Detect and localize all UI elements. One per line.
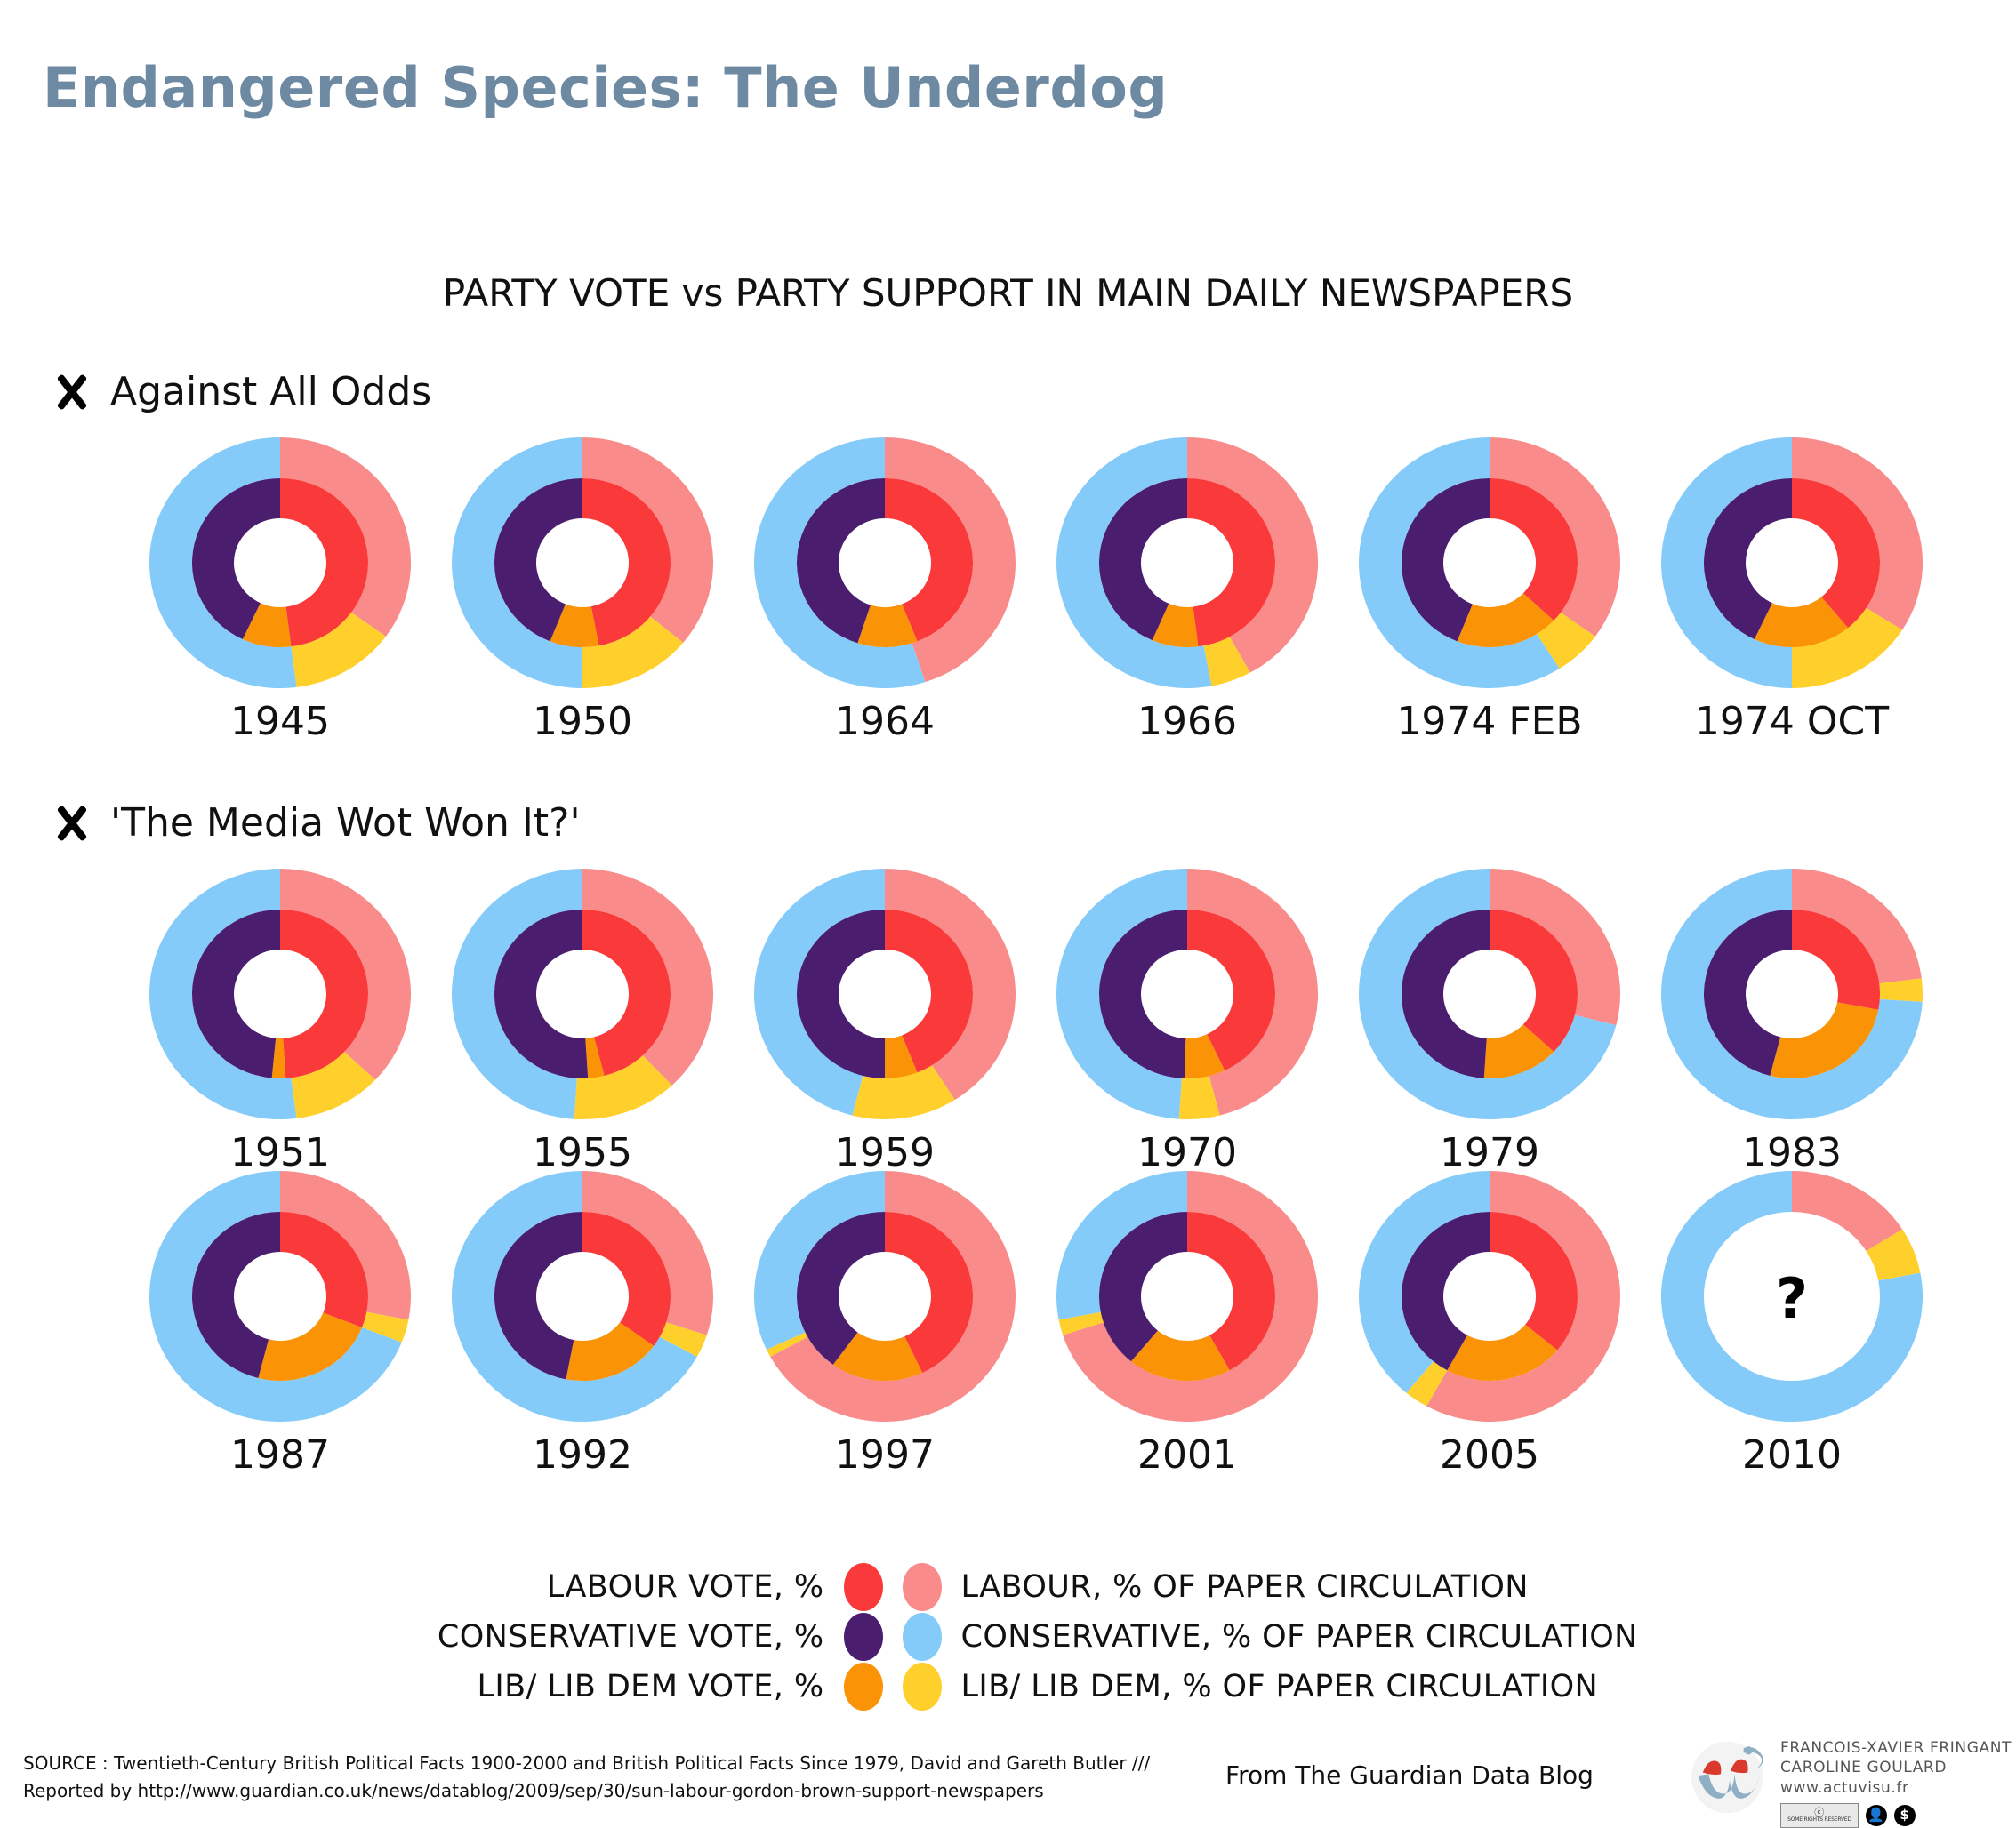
legend-vote-swatch-0 xyxy=(844,1563,883,1611)
donut-chart-1974-OCT xyxy=(1659,436,1925,694)
chart-cell-1951: 1951 xyxy=(138,867,422,1175)
legend: LABOUR VOTE, %LABOUR, % OF PAPER CIRCULA… xyxy=(0,1565,2016,1714)
donut-wrapper-2010: ? xyxy=(1659,1169,1925,1427)
author-name-2: CAROLINE GOULARD xyxy=(1780,1758,2012,1777)
donut-chart-1970 xyxy=(1054,867,1321,1125)
chart-cell-1950: 1950 xyxy=(440,436,725,744)
donut-wrapper-1966 xyxy=(1054,436,1321,694)
chart-row-3: 19871992199720012005?2010 xyxy=(0,1169,2016,1463)
donut-chart-1955 xyxy=(449,867,716,1125)
year-label-1945: 1945 xyxy=(138,699,422,744)
chart-cell-1987: 1987 xyxy=(138,1169,422,1478)
legend-paper-label-1: CONSERVATIVE, % OF PAPER CIRCULATION xyxy=(942,1619,1779,1655)
chart-cell-1979: 1979 xyxy=(1347,867,1632,1175)
attribution-block: FRANCOIS-XAVIER FRINGANT CAROLINE GOULAR… xyxy=(1690,1738,2012,1828)
chart-cell-1966: 1966 xyxy=(1045,436,1329,744)
donut-chart-1951 xyxy=(147,867,414,1125)
author-website-link[interactable]: www.actuvisu.fr xyxy=(1780,1778,2012,1798)
source-line-2: Reported by http://www.guardian.co.uk/ne… xyxy=(23,1777,1150,1805)
legend-paper-swatch-2 xyxy=(903,1663,942,1711)
year-label-1974-OCT: 1974 OCT xyxy=(1650,699,1934,744)
year-label-1950: 1950 xyxy=(440,699,725,744)
donut-chart-1979 xyxy=(1356,867,1623,1125)
donut-wrapper-1979 xyxy=(1356,867,1623,1125)
donut-wrapper-1974-FEB xyxy=(1356,436,1623,694)
year-label-1992: 1992 xyxy=(440,1432,725,1478)
x-marker-icon xyxy=(53,373,91,411)
legend-paper-label-2: LIB/ LIB DEM, % OF PAPER CIRCULATION xyxy=(942,1669,1779,1704)
legend-vote-label-1: CONSERVATIVE VOTE, % xyxy=(237,1619,844,1655)
chart-row-2: 195119551959197019791983 xyxy=(0,867,2016,1160)
legend-vote-label-0: LABOUR VOTE, % xyxy=(237,1569,844,1605)
donut-wrapper-1983 xyxy=(1659,867,1925,1125)
donut-chart-2005 xyxy=(1356,1169,1623,1427)
donut-chart-1974-FEB xyxy=(1356,436,1623,694)
actuvisu-logo-icon xyxy=(1690,1738,1771,1816)
donut-wrapper-2005 xyxy=(1356,1169,1623,1427)
author-name-1: FRANCOIS-XAVIER FRINGANT xyxy=(1780,1738,2012,1758)
donut-chart-1997 xyxy=(751,1169,1018,1427)
legend-paper-swatch-0 xyxy=(903,1563,942,1611)
donut-chart-1945 xyxy=(147,436,414,694)
donut-wrapper-1992 xyxy=(449,1169,716,1427)
legend-row-2: LIB/ LIB DEM VOTE, %LIB/ LIB DEM, % OF P… xyxy=(0,1664,2016,1709)
chart-cell-1955: 1955 xyxy=(440,867,725,1175)
chart-cell-1992: 1992 xyxy=(440,1169,725,1478)
donut-wrapper-1970 xyxy=(1054,867,1321,1125)
legend-row-1: CONSERVATIVE VOTE, %CONSERVATIVE, % OF P… xyxy=(0,1615,2016,1659)
x-marker-icon xyxy=(53,805,91,842)
year-label-1997: 1997 xyxy=(743,1432,1027,1478)
year-label-1974-FEB: 1974 FEB xyxy=(1347,699,1632,744)
year-label-1987: 1987 xyxy=(138,1432,422,1478)
chart-cell-2001: 2001 xyxy=(1045,1169,1329,1478)
unknown-vote-marker: ? xyxy=(1659,1169,1925,1427)
chart-cell-1945: 1945 xyxy=(138,436,422,744)
cc-glyph: ⓒ xyxy=(1814,1808,1825,1816)
chart-cell-1983: 1983 xyxy=(1650,867,1934,1175)
page-title: Endangered Species: The Underdog xyxy=(43,55,1168,120)
donut-chart-1966 xyxy=(1054,436,1321,694)
donut-chart-1950 xyxy=(449,436,716,694)
chart-cell-1964: 1964 xyxy=(743,436,1027,744)
year-label-1964: 1964 xyxy=(743,699,1027,744)
donut-wrapper-1974-OCT xyxy=(1659,436,1925,694)
donut-wrapper-2001 xyxy=(1054,1169,1321,1427)
donut-chart-1964 xyxy=(751,436,1018,694)
section-header-odds-label: Against All Odds xyxy=(110,369,431,414)
donut-chart-1959 xyxy=(751,867,1018,1125)
legend-row-0: LABOUR VOTE, %LABOUR, % OF PAPER CIRCULA… xyxy=(0,1565,2016,1609)
legend-vote-swatch-2 xyxy=(844,1663,883,1711)
donut-chart-1992 xyxy=(449,1169,716,1427)
year-label-2001: 2001 xyxy=(1045,1432,1329,1478)
chart-cell-1959: 1959 xyxy=(743,867,1027,1175)
donut-wrapper-1987 xyxy=(147,1169,414,1427)
year-label-2010: 2010 xyxy=(1650,1432,1934,1478)
donut-chart-1983 xyxy=(1659,867,1925,1125)
chart-cell-1997: 1997 xyxy=(743,1169,1027,1478)
chart-cell-1974-FEB: 1974 FEB xyxy=(1347,436,1632,744)
cc-nc-icon: $ xyxy=(1894,1805,1916,1826)
chart-cell-2005: 2005 xyxy=(1347,1169,1632,1478)
donut-chart-1987 xyxy=(147,1169,414,1427)
year-label-1966: 1966 xyxy=(1045,699,1329,744)
section-header-odds: Against All Odds xyxy=(53,369,431,414)
year-label-2005: 2005 xyxy=(1347,1432,1632,1478)
chart-row-1: 19451950196419661974 FEB1974 OCT xyxy=(0,436,2016,729)
legend-vote-label-2: LIB/ LIB DEM VOTE, % xyxy=(237,1669,844,1704)
legend-paper-label-0: LABOUR, % OF PAPER CIRCULATION xyxy=(942,1569,1779,1605)
section-header-media: 'The Media Wot Won It?' xyxy=(53,800,581,846)
donut-wrapper-1945 xyxy=(147,436,414,694)
source-note: SOURCE : Twentieth-Century British Polit… xyxy=(23,1750,1150,1805)
chart-cell-1970: 1970 xyxy=(1045,867,1329,1175)
donut-wrapper-1951 xyxy=(147,867,414,1125)
legend-vote-swatch-1 xyxy=(844,1613,883,1661)
cc-by-icon: 👤 xyxy=(1866,1805,1887,1826)
legend-paper-swatch-1 xyxy=(903,1613,942,1661)
some-rights-reserved-icon: ⓒ SOME RIGHTS RESERVED xyxy=(1780,1803,1859,1828)
donut-wrapper-1997 xyxy=(751,1169,1018,1427)
donut-chart-2001 xyxy=(1054,1169,1321,1427)
blog-credit: From The Guardian Data Blog xyxy=(1225,1760,1594,1790)
donut-wrapper-1950 xyxy=(449,436,716,694)
donut-wrapper-1959 xyxy=(751,867,1018,1125)
source-line-1: SOURCE : Twentieth-Century British Polit… xyxy=(23,1750,1150,1777)
chart-subtitle: PARTY VOTE vs PARTY SUPPORT IN MAIN DAIL… xyxy=(0,271,2016,315)
chart-cell-1974-OCT: 1974 OCT xyxy=(1650,436,1934,744)
donut-wrapper-1964 xyxy=(751,436,1018,694)
chart-cell-2010: ?2010 xyxy=(1650,1169,1934,1478)
cc-caption: SOME RIGHTS RESERVED xyxy=(1787,1816,1851,1824)
creative-commons-badges: ⓒ SOME RIGHTS RESERVED 👤 $ xyxy=(1780,1803,2012,1828)
section-header-media-label: 'The Media Wot Won It?' xyxy=(110,800,581,846)
donut-wrapper-1955 xyxy=(449,867,716,1125)
